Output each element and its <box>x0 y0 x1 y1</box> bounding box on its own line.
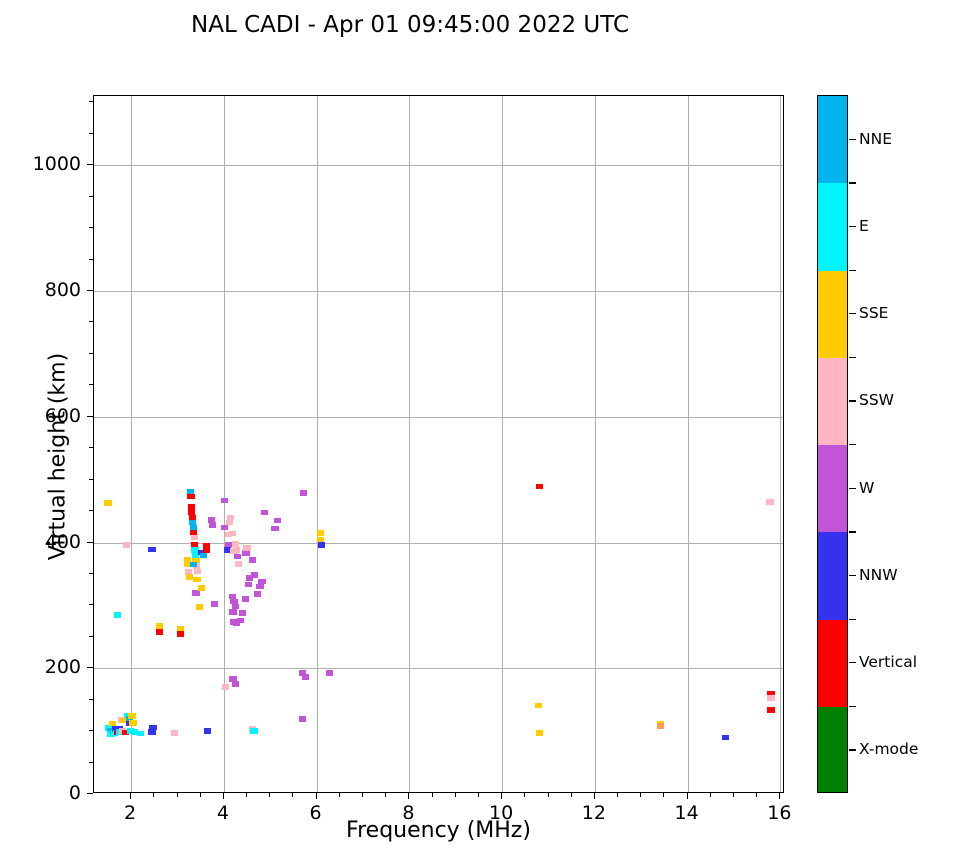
data-point <box>209 522 216 528</box>
data-point <box>235 561 242 567</box>
data-point <box>128 713 135 719</box>
y-tick-minor <box>89 573 93 574</box>
data-point <box>229 609 236 615</box>
data-point <box>190 562 197 568</box>
data-point <box>258 579 265 585</box>
y-tick-minor <box>89 604 93 605</box>
x-tick-major <box>223 793 224 799</box>
y-tick-major <box>87 667 93 668</box>
gridline-horizontal <box>94 165 783 166</box>
data-point <box>239 610 246 616</box>
data-point <box>326 670 333 676</box>
colorbar-boundary-tick <box>849 531 856 532</box>
y-tick-minor <box>89 353 93 354</box>
y-tick-minor <box>89 101 93 102</box>
data-point <box>536 484 543 490</box>
y-tick-minor <box>89 762 93 763</box>
data-point <box>256 584 263 590</box>
colorbar-label-sse: SSE <box>859 304 888 322</box>
y-tick-label: 0 <box>1 782 81 804</box>
gridline-horizontal <box>94 417 783 418</box>
x-tick-minor <box>617 793 618 797</box>
data-point <box>148 547 155 553</box>
data-point <box>251 572 258 578</box>
data-point <box>766 499 773 505</box>
colorbar-boundary-tick <box>849 706 856 707</box>
y-tick-minor <box>89 259 93 260</box>
y-tick-minor <box>89 447 93 448</box>
x-tick-minor <box>362 793 363 797</box>
data-point <box>156 629 163 635</box>
x-tick-minor <box>640 793 641 797</box>
data-point <box>317 530 324 536</box>
data-point <box>299 716 306 722</box>
y-tick-minor <box>89 699 93 700</box>
y-tick-major <box>87 164 93 165</box>
x-tick-minor <box>756 793 757 797</box>
gridline-vertical <box>595 96 596 792</box>
colorbar-segment-nnw[interactable] <box>818 532 847 620</box>
y-tick-minor <box>89 196 93 197</box>
data-point <box>249 557 256 563</box>
gridline-vertical <box>131 96 132 792</box>
x-tick-minor <box>292 793 293 797</box>
gridline-vertical <box>780 96 781 792</box>
colorbar-segment-x-mode[interactable] <box>818 707 847 793</box>
y-tick-label: 800 <box>1 279 81 301</box>
colorbar-segment-sse[interactable] <box>818 271 847 359</box>
colorbar-segment-nne[interactable] <box>818 96 847 184</box>
data-point <box>300 490 307 496</box>
x-tick-minor <box>432 793 433 797</box>
data-point <box>250 728 257 734</box>
colorbar-center-tick <box>849 662 856 663</box>
data-point <box>211 601 218 607</box>
x-tick-minor <box>339 793 340 797</box>
data-point <box>187 494 194 500</box>
data-point <box>193 577 200 583</box>
gridline-vertical <box>409 96 410 792</box>
data-point <box>192 590 199 596</box>
x-tick-minor <box>455 793 456 797</box>
data-point <box>221 525 228 531</box>
data-point <box>221 498 228 504</box>
chart-canvas: NAL CADI - Apr 01 09:45:00 2022 UTC 2468… <box>0 0 958 857</box>
data-point <box>535 703 542 709</box>
y-axis-label: Virtual height (km) <box>46 307 71 607</box>
data-point <box>261 510 268 516</box>
data-point <box>171 730 178 736</box>
data-point <box>242 596 249 602</box>
colorbar-center-tick <box>849 400 856 401</box>
y-tick-minor <box>89 384 93 385</box>
data-point <box>767 695 774 701</box>
data-point <box>536 730 543 736</box>
colorbar-label-x-mode: X-mode <box>859 740 918 758</box>
gridline-horizontal <box>94 668 783 669</box>
y-tick-major <box>87 416 93 417</box>
data-point <box>233 547 240 553</box>
x-tick-major <box>687 793 688 799</box>
colorbar[interactable] <box>817 95 848 793</box>
x-tick-minor <box>269 793 270 797</box>
colorbar-label-nnw: NNW <box>859 566 898 584</box>
data-point <box>123 542 130 548</box>
gridline-vertical <box>688 96 689 792</box>
colorbar-label-w: W <box>859 479 874 497</box>
x-tick-major <box>316 793 317 799</box>
x-tick-major <box>594 793 595 799</box>
y-tick-minor <box>89 730 93 731</box>
colorbar-center-tick <box>849 488 856 489</box>
data-point <box>204 728 211 734</box>
colorbar-boundary-tick <box>849 444 856 445</box>
data-point <box>191 535 198 541</box>
colorbar-segment-vertical[interactable] <box>818 620 847 708</box>
data-point <box>234 554 241 560</box>
x-tick-minor <box>548 793 549 797</box>
y-tick-minor <box>89 636 93 637</box>
data-point <box>232 541 239 547</box>
data-point <box>222 684 229 690</box>
data-point <box>302 674 309 680</box>
data-point <box>177 631 184 637</box>
colorbar-label-e: E <box>859 217 869 235</box>
colorbar-center-tick <box>849 313 856 314</box>
colorbar-boundary-tick <box>849 619 856 620</box>
x-tick-minor <box>478 793 479 797</box>
data-point <box>767 707 774 713</box>
y-tick-minor <box>89 321 93 322</box>
data-point <box>237 618 244 624</box>
gridline-horizontal <box>94 291 783 292</box>
data-point <box>200 553 207 559</box>
data-point <box>226 520 233 526</box>
colorbar-segment-e[interactable] <box>818 183 847 271</box>
x-tick-minor <box>733 793 734 797</box>
x-tick-major <box>779 793 780 799</box>
data-point <box>137 731 144 737</box>
y-tick-minor <box>89 510 93 511</box>
colorbar-label-vertical: Vertical <box>859 653 917 671</box>
y-tick-major <box>87 542 93 543</box>
x-tick-major <box>130 793 131 799</box>
x-tick-minor <box>153 793 154 797</box>
data-point <box>254 591 261 597</box>
x-tick-minor <box>385 793 386 797</box>
page-title: NAL CADI - Apr 01 09:45:00 2022 UTC <box>0 12 820 38</box>
colorbar-center-tick <box>849 139 856 140</box>
data-point <box>149 725 156 731</box>
data-point <box>129 720 136 726</box>
data-point <box>194 569 201 575</box>
x-tick-major <box>501 793 502 799</box>
x-tick-minor <box>663 793 664 797</box>
data-point <box>232 681 239 687</box>
colorbar-center-tick <box>849 226 856 227</box>
data-point <box>271 526 278 532</box>
data-point <box>203 547 210 553</box>
x-tick-minor <box>246 793 247 797</box>
gridline-vertical <box>502 96 503 792</box>
y-tick-major <box>87 793 93 794</box>
y-tick-label: 200 <box>1 656 81 678</box>
y-tick-minor <box>89 479 93 480</box>
colorbar-center-tick <box>849 749 856 750</box>
x-tick-minor <box>524 793 525 797</box>
data-point <box>114 612 121 618</box>
colorbar-boundary-tick <box>849 357 856 358</box>
colorbar-segment-w[interactable] <box>818 445 847 533</box>
y-tick-minor <box>89 227 93 228</box>
data-point <box>198 585 205 591</box>
data-point <box>186 574 193 580</box>
x-tick-major <box>408 793 409 799</box>
data-point <box>657 723 664 729</box>
data-point <box>274 518 281 524</box>
data-point <box>318 542 325 548</box>
data-point <box>196 604 203 610</box>
data-point <box>104 500 111 506</box>
colorbar-boundary-tick <box>849 182 856 183</box>
data-point <box>229 531 236 537</box>
x-axis-label: Frequency (MHz) <box>93 818 784 843</box>
data-point <box>242 550 249 556</box>
x-tick-minor <box>710 793 711 797</box>
y-tick-label: 1000 <box>1 153 81 175</box>
colorbar-segment-ssw[interactable] <box>818 358 847 446</box>
x-tick-minor <box>177 793 178 797</box>
colorbar-boundary-tick <box>849 270 856 271</box>
y-tick-major <box>87 290 93 291</box>
x-tick-minor <box>200 793 201 797</box>
colorbar-label-ssw: SSW <box>859 391 894 409</box>
data-point <box>245 582 252 588</box>
plot-area <box>93 95 784 793</box>
colorbar-center-tick <box>849 575 856 576</box>
x-tick-minor <box>571 793 572 797</box>
y-tick-minor <box>89 133 93 134</box>
data-point <box>243 545 250 551</box>
gridline-vertical <box>317 96 318 792</box>
colorbar-label-nne: NNE <box>859 130 892 148</box>
data-point <box>722 735 729 741</box>
